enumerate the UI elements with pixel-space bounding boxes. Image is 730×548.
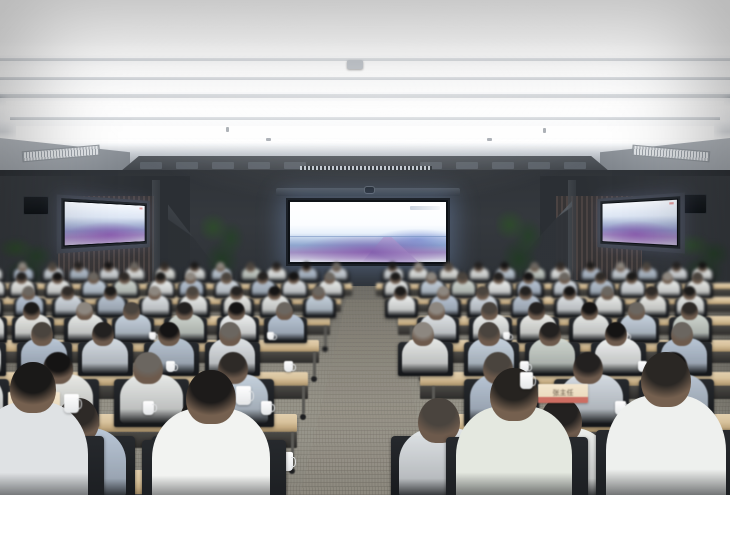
attendee-head <box>185 272 196 284</box>
ceiling-light-fixture <box>10 110 720 114</box>
coffee-mug <box>143 401 154 415</box>
attendee-head <box>414 262 423 272</box>
attendee-head <box>563 286 576 300</box>
attendee-head <box>104 286 117 300</box>
attendee-head <box>324 272 335 284</box>
screenshot-root: 张先生 张主任 <box>0 0 730 548</box>
conference-camera[interactable] <box>364 186 375 194</box>
coffee-mug <box>236 386 251 405</box>
main-screen-content <box>290 202 446 262</box>
attendee-head <box>18 262 27 272</box>
smoke-detector-icon <box>487 138 492 141</box>
attendee-head <box>530 262 539 272</box>
attendee-head <box>412 322 434 346</box>
coffee-mug <box>284 361 293 372</box>
attendee-torso <box>606 395 726 495</box>
attendee-head <box>246 262 255 272</box>
sprinkler-head <box>543 128 546 133</box>
attendee-head <box>672 262 681 272</box>
ceiling-projector <box>347 60 363 69</box>
coffee-mug <box>261 401 272 415</box>
ceiling-light-fixture <box>0 46 730 55</box>
sprinkler-head <box>226 127 229 132</box>
attendee-head <box>390 272 401 284</box>
attendee-head <box>437 286 450 300</box>
ceiling-rail <box>0 77 730 80</box>
attendee-head <box>478 322 500 346</box>
screen-logo-mark <box>140 207 143 209</box>
attendee-head <box>288 272 299 284</box>
attendee-torso <box>0 402 88 495</box>
attendee-head <box>388 262 397 272</box>
ceiling-light-fixture <box>0 66 730 73</box>
attendee-head <box>302 262 311 272</box>
attendee-head <box>119 272 130 284</box>
ceiling-light-fixture <box>16 126 714 138</box>
attendee-head <box>426 272 437 284</box>
attendee-head <box>616 262 625 272</box>
attendee-head <box>573 352 603 384</box>
ceiling-vent-strip <box>528 162 550 169</box>
ceiling-vent-strip <box>492 162 514 169</box>
attendee-head <box>76 302 93 320</box>
mesh-office-chair <box>0 298 3 318</box>
attendee-head <box>519 286 532 300</box>
left-screen-content <box>65 202 145 246</box>
coffee-mug <box>520 372 533 389</box>
attendee-head <box>332 262 341 272</box>
attendee-head <box>428 302 445 320</box>
placard-right-front-text: 张主任 <box>543 388 583 397</box>
attendee-head <box>52 272 63 284</box>
attendee-head <box>61 286 74 300</box>
attendee-head <box>22 286 35 300</box>
attendee-head <box>130 262 139 272</box>
attendee-head <box>230 286 243 300</box>
wall-pillar-right <box>568 180 576 280</box>
attendee-head <box>559 272 570 284</box>
attendee-head <box>641 352 691 407</box>
desk-leg <box>302 386 305 414</box>
attendee-head <box>698 262 707 272</box>
attendee-head <box>595 272 606 284</box>
right-screen-content <box>602 200 676 246</box>
attendee-head <box>92 322 114 346</box>
attendee-head <box>523 272 534 284</box>
attendee-head <box>74 262 83 272</box>
attendee-head <box>671 322 693 346</box>
attendee-head <box>394 286 407 300</box>
attendee-head <box>160 262 169 272</box>
ceiling-rail <box>0 94 730 98</box>
coffee-mug <box>64 394 79 413</box>
attendee-head <box>88 272 99 284</box>
attendee-head <box>528 302 545 320</box>
attendee-head <box>176 302 193 320</box>
attendee-head <box>681 302 698 320</box>
attendee-head <box>692 272 703 284</box>
desk-caster <box>311 376 317 382</box>
ceiling-light-fixture <box>0 86 730 92</box>
desk-caster <box>322 346 328 352</box>
main-led-screen[interactable] <box>286 198 450 266</box>
attendee-head <box>500 262 509 272</box>
attendee-head <box>626 272 637 284</box>
attendee-head <box>186 370 236 424</box>
attendee-head <box>556 262 565 272</box>
desk-caster <box>300 414 306 420</box>
left-side-screen[interactable] <box>61 198 147 249</box>
smoke-detector-icon <box>266 138 271 141</box>
attendee-head <box>257 272 268 284</box>
attendee-head <box>104 262 113 272</box>
desk-leg <box>313 352 316 376</box>
right-side-screen[interactable] <box>600 196 680 249</box>
screen-horizon-line <box>290 236 446 237</box>
ceiling-vent-strip <box>212 162 234 169</box>
attendee-head <box>16 272 27 284</box>
attendee-head <box>221 272 232 284</box>
attendee-head <box>276 302 293 320</box>
attendee-head <box>272 262 281 272</box>
attendee-head <box>268 286 281 300</box>
coffee-mug <box>149 332 156 341</box>
ceiling-vent-strip <box>248 162 270 169</box>
ceiling-vent-strip <box>140 162 162 169</box>
ceiling-light-fixture <box>22 142 708 146</box>
attendee-head <box>10 362 56 413</box>
attendee-head <box>476 286 489 300</box>
attendee-head <box>683 286 696 300</box>
ceiling-rail <box>10 117 720 120</box>
attendee-head <box>493 272 504 284</box>
attendee-head <box>539 322 561 346</box>
attendee-head <box>123 302 140 320</box>
attendee-head <box>628 302 645 320</box>
attendee-head <box>31 322 53 346</box>
attendee-head <box>186 286 199 300</box>
attendee-head <box>605 322 627 346</box>
attendee-head <box>190 262 199 272</box>
coffee-mug <box>166 361 175 372</box>
attendee-head <box>601 286 614 300</box>
attendee-head <box>158 322 180 346</box>
ceiling-rail <box>0 58 730 61</box>
desk-leg <box>324 326 327 346</box>
attendee-head <box>219 322 241 346</box>
coffee-mug <box>267 332 274 341</box>
attendee-head <box>662 272 673 284</box>
attendee-head <box>312 286 325 300</box>
attendee-head <box>457 272 468 284</box>
screen-logo-mark <box>669 202 673 204</box>
attendee-head <box>155 272 166 284</box>
ceiling-light-fixture <box>6 101 724 106</box>
attendee-head <box>444 262 453 272</box>
attendee-head <box>581 302 598 320</box>
attendee-head <box>216 262 225 272</box>
attendee-head <box>645 286 658 300</box>
ceiling-vent-strip <box>456 162 478 169</box>
wall-speaker-left <box>23 196 49 215</box>
attendee-head <box>133 352 163 384</box>
attendee-head <box>586 262 595 272</box>
ceiling-vent-strip <box>564 162 586 169</box>
meeting-room-photograph <box>0 0 730 495</box>
screen-watermark <box>410 206 440 210</box>
attendee-head <box>474 262 483 272</box>
attendee-head <box>48 262 57 272</box>
ceiling-vent-strip <box>176 162 198 169</box>
attendee-head <box>148 286 161 300</box>
attendee-head <box>481 302 498 320</box>
attendee-head <box>228 302 245 320</box>
attendee-head <box>642 262 651 272</box>
attendee-head <box>23 302 40 320</box>
